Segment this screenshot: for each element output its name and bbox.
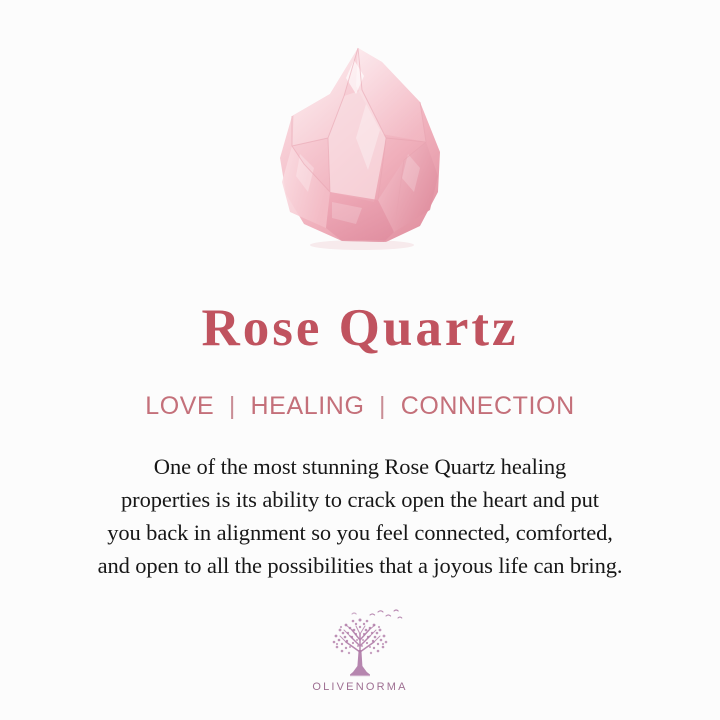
tree-of-life-icon	[312, 608, 408, 680]
tagline-word-connection: CONNECTION	[401, 392, 575, 420]
description-line: you back in alignment so you feel connec…	[18, 516, 702, 549]
rose-quartz-info-card: Rose Quartz LOVE | HEALING | CONNECTION …	[0, 0, 720, 720]
tagline-separator: |	[222, 393, 243, 421]
description-line: and open to all the possibilities that a…	[18, 549, 702, 582]
tagline-word-love: LOVE	[145, 392, 214, 420]
description-line: One of the most stunning Rose Quartz hea…	[18, 450, 702, 483]
brand-logo: OLIVENORMA	[0, 608, 720, 693]
rose-quartz-crystal-icon	[270, 42, 450, 252]
page-title: Rose Quartz	[0, 299, 720, 358]
brand-wordmark: OLIVENORMA	[312, 682, 407, 693]
rose-quartz-crystal-image	[270, 42, 450, 252]
tagline: LOVE | HEALING | CONNECTION	[0, 393, 720, 421]
hero-image-area	[0, 0, 720, 268]
tagline-word-healing: HEALING	[251, 392, 365, 420]
description-paragraph: One of the most stunning Rose Quartz hea…	[18, 450, 702, 582]
tagline-separator: |	[372, 393, 393, 421]
description-line: properties is its ability to crack open …	[18, 483, 702, 516]
